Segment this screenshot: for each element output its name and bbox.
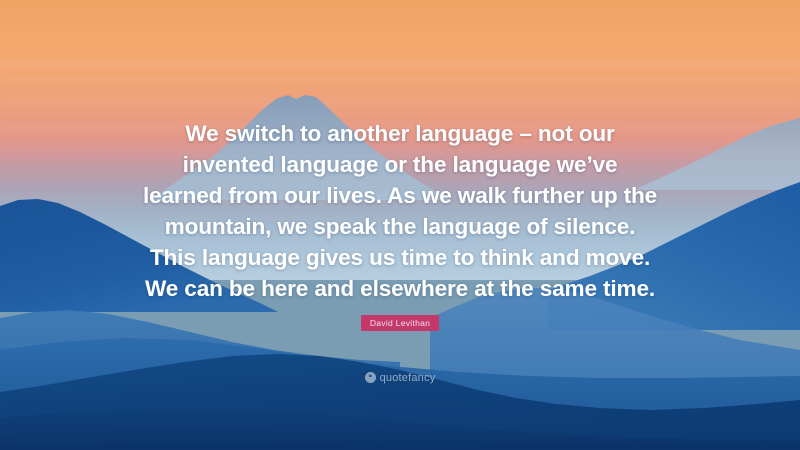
quote-line: mountain, we speak the language of silen… [140, 211, 660, 242]
author-name-badge[interactable]: David Levithan [361, 315, 439, 331]
quote-text: We switch to another language – not our … [0, 118, 800, 304]
quote-line: This language gives us time to think and… [140, 242, 660, 273]
quote-image: We switch to another language – not our … [0, 0, 800, 450]
quote-line: We can be here and elsewhere at the same… [140, 273, 660, 304]
watermark: ❝ quotefancy [0, 366, 800, 384]
author-attribution: David Levithan [0, 313, 800, 331]
quote-line: learned from our lives. As we walk furth… [140, 180, 660, 211]
quote-mark-icon: ❝ [365, 372, 376, 383]
watermark-brand-label: quotefancy [380, 372, 436, 384]
watermark-inner[interactable]: ❝ quotefancy [365, 372, 436, 384]
quote-line: invented language or the language we’ve [140, 149, 660, 180]
quote-line: We switch to another language – not our [140, 118, 660, 149]
